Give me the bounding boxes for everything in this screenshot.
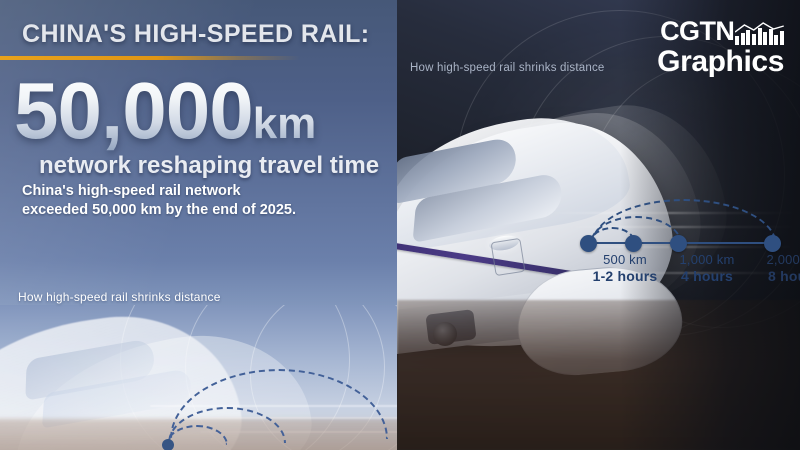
node-origin[interactable] [580, 235, 597, 252]
hero-figure-unit: km [253, 99, 317, 148]
lead-line-1: China's high-speed rail network [22, 182, 382, 201]
label-2000km: 2,000 km 8 hours [752, 252, 800, 284]
label-2000km-time: 8 hours [752, 268, 800, 284]
infographic-canvas: CHINA'S HIGH-SPEED RAIL: 50,000km networ… [0, 0, 800, 450]
ghost-train-illustration [0, 305, 430, 450]
hero-figure-number: 50,000 [14, 66, 253, 155]
label-500km-time: 1-2 hours [583, 268, 667, 284]
label-1000km-distance: 1,000 km [665, 252, 749, 267]
logo-top-row: CGTN [657, 18, 784, 45]
caption-bottom-left: How high-speed rail shrinks distance [18, 290, 221, 304]
node-500km[interactable] [625, 235, 642, 252]
label-1000km: 1,000 km 4 hours [665, 252, 749, 284]
page-title: CHINA'S HIGH-SPEED RAIL: [22, 20, 392, 49]
bar-chart-icon [735, 23, 784, 45]
cgtn-graphics-logo: CGTN Graphics [657, 18, 784, 78]
lead-paragraph: China's high-speed rail network exceeded… [22, 182, 382, 220]
logo-cgtn-text: CGTN [660, 18, 734, 45]
label-500km-distance: 500 km [583, 252, 667, 267]
ghost-origin-node [162, 439, 174, 450]
node-1000km[interactable] [670, 235, 687, 252]
gold-divider-rule [0, 56, 300, 60]
lead-line-2: exceeded 50,000 km by the end of 2025. [22, 201, 382, 220]
hero-subline: network reshaping travel time [14, 152, 404, 180]
right-photo-panel: How high-speed rail shrinks distance 500… [397, 0, 800, 450]
label-2000km-distance: 2,000 km [752, 252, 800, 267]
label-1000km-time: 4 hours [665, 268, 749, 284]
logo-graphics-text: Graphics [657, 46, 784, 78]
label-500km: 500 km 1-2 hours [583, 252, 667, 284]
node-2000km[interactable] [764, 235, 781, 252]
